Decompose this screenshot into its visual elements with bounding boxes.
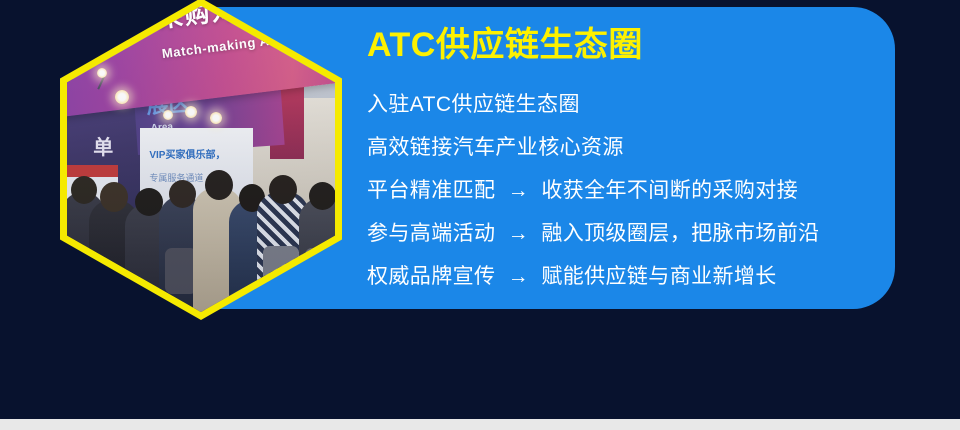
- photo-left-wall-text: 单: [93, 131, 113, 160]
- page-title: ATC供应链生态圈: [367, 24, 887, 66]
- photo-lamp-4: [210, 112, 222, 124]
- list-item-right: 赋能供应链与商业新增长: [541, 265, 776, 288]
- photo-person-head: [309, 182, 335, 210]
- list-item-right: 收获全年不间断的采购对接: [541, 179, 798, 202]
- photo-person-head: [169, 180, 196, 208]
- list-item-left: 参与高端活动: [367, 222, 495, 245]
- list-item-right: 融入顶级圈层，把脉市场前沿: [541, 222, 819, 245]
- photo-person-head: [269, 175, 297, 204]
- list-item: 入驻ATC供应链生态圈: [367, 83, 887, 126]
- photo-main-banner-cn: 采购对接区: [156, 6, 294, 35]
- photo-person-head: [71, 176, 97, 204]
- list-item: 平台精准匹配 → 收获全年不间断的采购对接: [367, 169, 887, 212]
- list-item-left: 入驻ATC供应链生态圈: [367, 93, 580, 116]
- photo-person-head: [205, 170, 233, 200]
- list-item: 权威品牌宣传 → 赋能供应链与商业新增长: [367, 255, 887, 298]
- card-text-column: ATC供应链生态圈 入驻ATC供应链生态圈 高效链接汽车产业核心资源 平台精准匹…: [367, 24, 887, 298]
- list-item: 参与高端活动 → 融入顶级圈层，把脉市场前沿: [367, 212, 887, 255]
- photo-lamp-1: [97, 68, 107, 78]
- photo-crowd: [67, 171, 335, 312]
- hexagon-photo-frame: 单 展区 Area VIP买家俱乐部， 专属服务通道 采购对接区: [60, 0, 342, 320]
- list-item: 高效链接汽车产业核心资源: [367, 126, 887, 169]
- photo-booth-text-1: VIP买家俱乐部，: [149, 146, 225, 161]
- list-item-left: 高效链接汽车产业核心资源: [367, 136, 624, 159]
- arrow-icon: →: [502, 265, 535, 288]
- photo-lamp-5: [163, 110, 173, 120]
- photo-lamp-3: [185, 106, 197, 118]
- photo-person-head: [100, 182, 128, 212]
- arrow-icon: →: [502, 179, 535, 202]
- bottom-strip: [0, 419, 960, 430]
- promo-banner: 单 展区 Area VIP买家俱乐部， 专属服务通道 采购对接区: [0, 0, 960, 430]
- photo-lamp-2: [115, 90, 129, 104]
- list-item-left: 平台精准匹配: [367, 179, 495, 202]
- arrow-icon: →: [502, 222, 535, 245]
- list-item-left: 权威品牌宣传: [367, 265, 495, 288]
- feature-list: 入驻ATC供应链生态圈 高效链接汽车产业核心资源 平台精准匹配 → 收获全年不间…: [367, 83, 887, 298]
